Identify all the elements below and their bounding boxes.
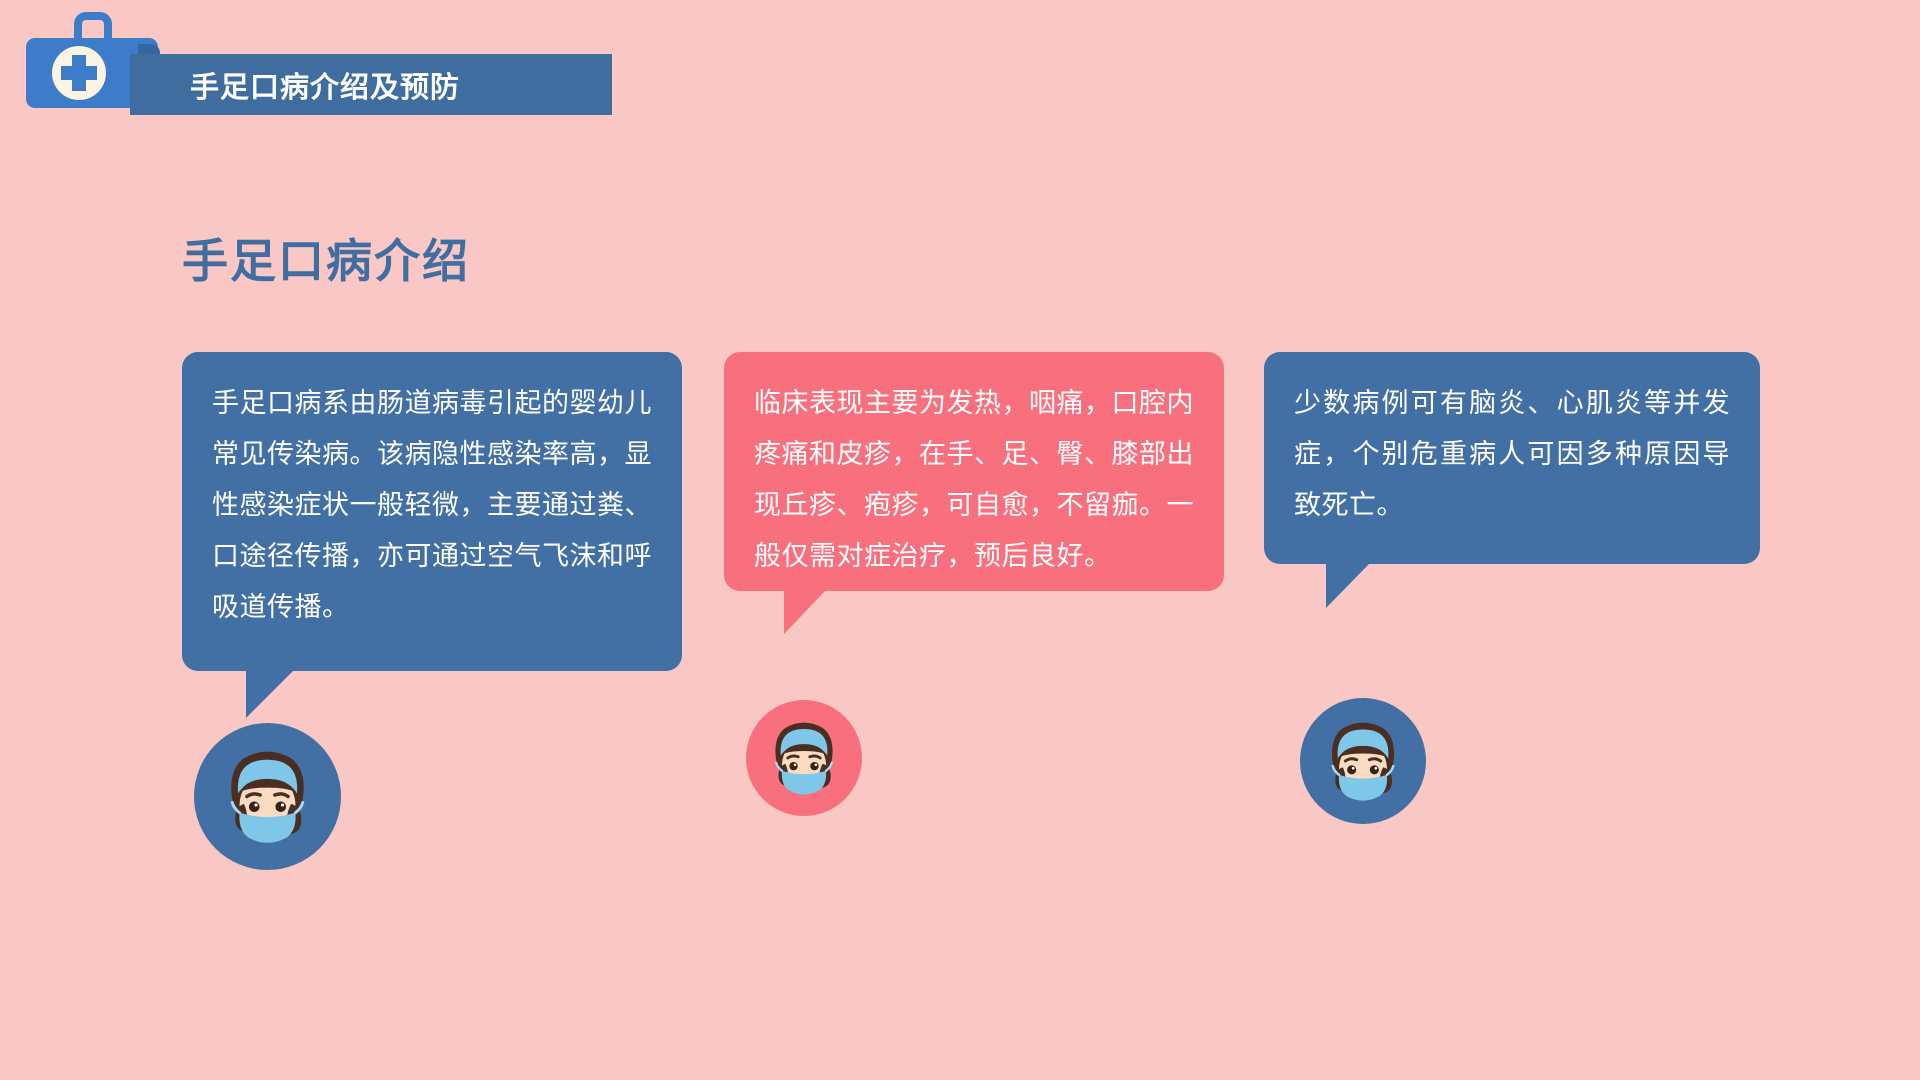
header: 手足口病介绍及预防 [0,0,760,150]
info-card-2-tail [784,590,826,634]
info-card-1-text: 手足口病系由肠道病毒引起的婴幼儿常见传染病。该病隐性感染率高，显性感染症状一般轻… [212,378,652,633]
info-card-1: 手足口病系由肠道病毒引起的婴幼儿常见传染病。该病隐性感染率高，显性感染症状一般轻… [182,352,682,671]
info-card-2-text: 临床表现主要为发热，咽痛，口腔内疼痛和皮疹，在手、足、臀、膝部出现丘疹、疱疹，可… [754,378,1194,582]
page-title: 手足口病介绍 [182,225,470,291]
nurse-avatar-icon-1 [194,723,341,870]
info-card-1-tail [246,670,294,718]
info-card-3: 少数病例可有脑炎、心肌炎等并发症，个别危重病人可因多种原因导致死亡。 [1264,352,1760,564]
header-ribbon: 手足口病介绍及预防 [130,54,612,115]
info-card-2: 临床表现主要为发热，咽痛，口腔内疼痛和皮疹，在手、足、臀、膝部出现丘疹、疱疹，可… [724,352,1224,591]
slide-root: 手足口病介绍及预防 手足口病介绍 手足口病系由肠道病毒引起的婴幼儿常见传染病。该… [0,0,1920,1080]
header-title: 手足口病介绍及预防 [190,64,460,106]
info-card-3-tail [1326,563,1370,608]
nurse-avatar-icon-2 [746,700,862,816]
cross-icon-horizontal [61,66,97,80]
info-card-3-text: 少数病例可有脑炎、心肌炎等并发症，个别危重病人可因多种原因导致死亡。 [1294,378,1730,531]
nurse-avatar-icon-3 [1300,698,1426,824]
medical-bag-handle [74,12,112,40]
